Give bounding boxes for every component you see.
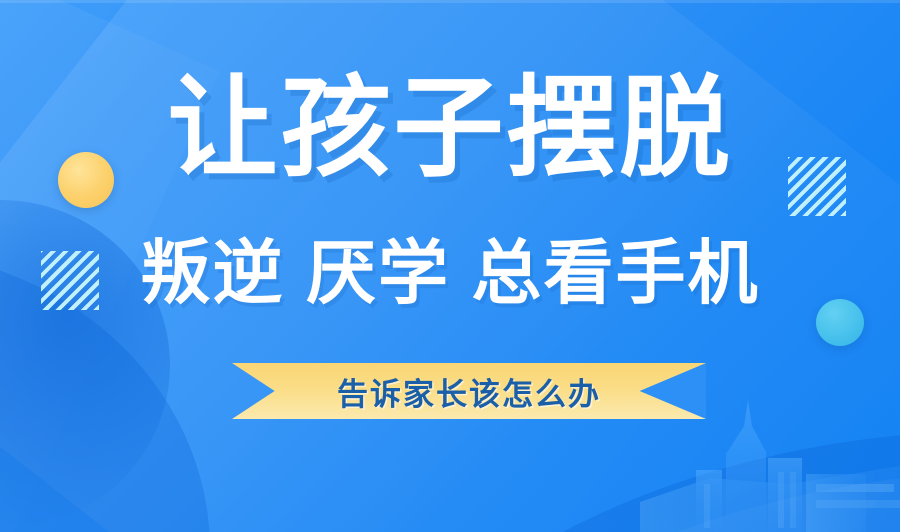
promotional-banner: 让孩子摆脱 叛逆 厌学 总看手机 告诉家长该怎么办 [0,0,900,532]
ribbon-label: 告诉家长该怎么办 [232,363,706,419]
headline-primary: 让孩子摆脱 [0,74,900,184]
headline-secondary: 叛逆 厌学 总看手机 [0,238,900,308]
background-bottom-curve [300,430,900,532]
background-bottom-curve-highlight [430,470,900,532]
background-top-edge [0,0,900,3]
